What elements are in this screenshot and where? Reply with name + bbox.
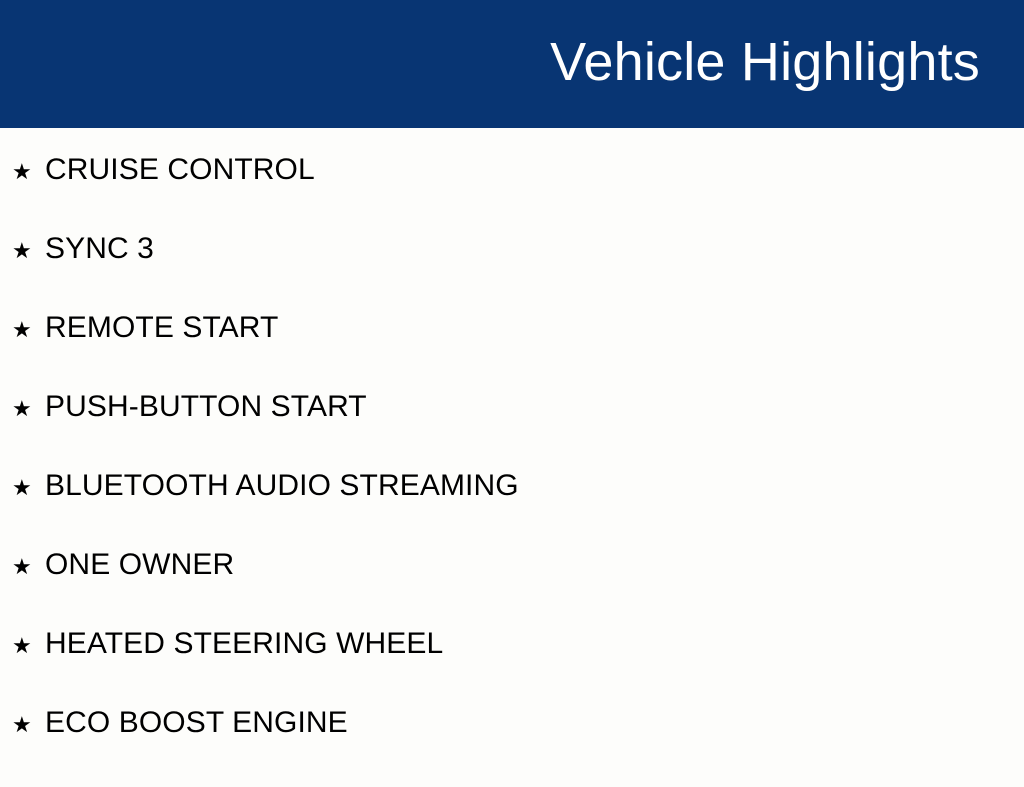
highlight-label: HEATED STEERING WHEEL <box>45 629 443 659</box>
highlight-label: SYNC 3 <box>45 234 154 264</box>
list-item: ★ REMOTE START <box>0 313 1024 392</box>
star-icon: ★ <box>12 636 45 658</box>
highlight-label: CRUISE CONTROL <box>45 155 315 185</box>
highlight-label: ONE OWNER <box>45 550 234 580</box>
star-icon: ★ <box>12 162 45 184</box>
star-icon: ★ <box>12 557 45 579</box>
list-item: ★ SYNC 3 <box>0 234 1024 313</box>
highlight-label: BLUETOOTH AUDIO STREAMING <box>45 471 519 501</box>
star-icon: ★ <box>12 715 45 737</box>
vehicle-highlights-slide: Vehicle Highlights ★ CRUISE CONTROL ★ SY… <box>0 0 1024 768</box>
highlight-label: REMOTE START <box>45 313 278 343</box>
page-title: Vehicle Highlights <box>550 35 980 89</box>
star-icon: ★ <box>12 241 45 263</box>
star-icon: ★ <box>12 320 45 342</box>
star-icon: ★ <box>12 399 45 421</box>
list-item: ★ BLUETOOTH AUDIO STREAMING <box>0 471 1024 550</box>
highlight-label: PUSH-BUTTON START <box>45 392 367 422</box>
header-band: Vehicle Highlights <box>0 0 1024 128</box>
list-item: ★ HEATED STEERING WHEEL <box>0 629 1024 708</box>
list-item: ★ CRUISE CONTROL <box>0 128 1024 234</box>
list-item: ★ PUSH-BUTTON START <box>0 392 1024 471</box>
star-icon: ★ <box>12 478 45 500</box>
list-item: ★ ECO BOOST ENGINE <box>0 708 1024 787</box>
list-item: ★ ONE OWNER <box>0 550 1024 629</box>
highlight-label: ECO BOOST ENGINE <box>45 708 348 738</box>
vehicle-highlights-list: ★ CRUISE CONTROL ★ SYNC 3 ★ REMOTE START… <box>0 128 1024 787</box>
